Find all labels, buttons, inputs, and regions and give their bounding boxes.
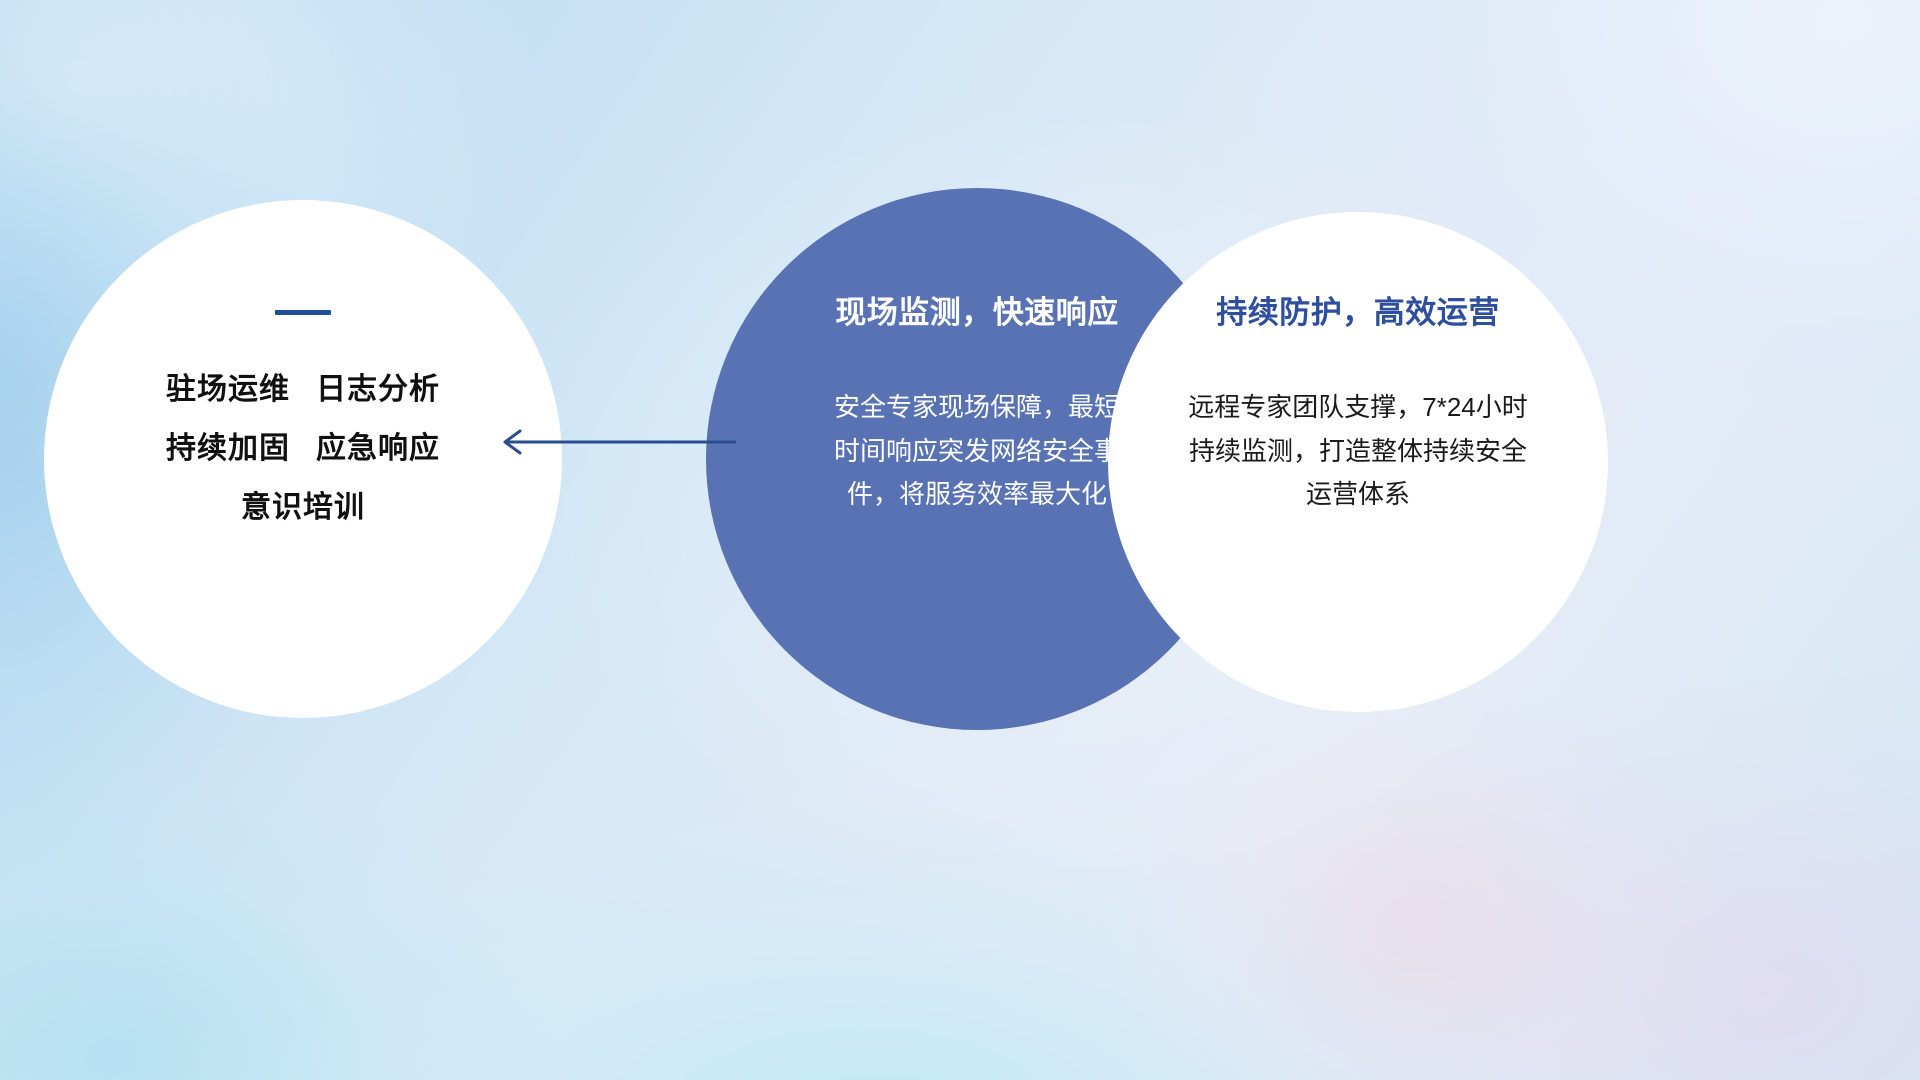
capability-row-1: 驻场运维日志分析 xyxy=(166,375,440,405)
capability-label-awareness-training: 意识培训 xyxy=(241,491,365,524)
capability-row-3: 意识培训 xyxy=(241,493,365,523)
slide-canvas: 驻场运维日志分析 持续加固应急响应 意识培训 现场监测，快速响应 安全专家现场保… xyxy=(0,0,1920,1080)
divider-rule xyxy=(275,310,331,315)
capability-label-onsite-ops: 驻场运维 xyxy=(166,373,290,406)
continuous-protection-title: 持续防护，高效运营 xyxy=(1216,296,1500,330)
capability-label-continuous-hardening: 持续加固 xyxy=(166,432,290,465)
capability-label-emergency-response: 应急响应 xyxy=(316,432,440,465)
onsite-monitoring-description: 安全专家现场保障，最短时间响应突发网络安全事件，将服务效率最大化 xyxy=(827,386,1127,517)
continuous-protection-description: 远程专家团队支撑，7*24小时持续监测，打造整体持续安全运营体系 xyxy=(1178,386,1538,517)
capability-label-log-analysis: 日志分析 xyxy=(316,373,440,406)
onsite-monitoring-title: 现场监测，快速响应 xyxy=(835,296,1119,330)
capabilities-content: 驻场运维日志分析 持续加固应急响应 意识培训 xyxy=(44,200,562,718)
capability-row-2: 持续加固应急响应 xyxy=(166,434,440,464)
continuous-protection-content: 持续防护，高效运营 远程专家团队支撑，7*24小时持续监测，打造整体持续安全运营… xyxy=(1108,212,1608,712)
